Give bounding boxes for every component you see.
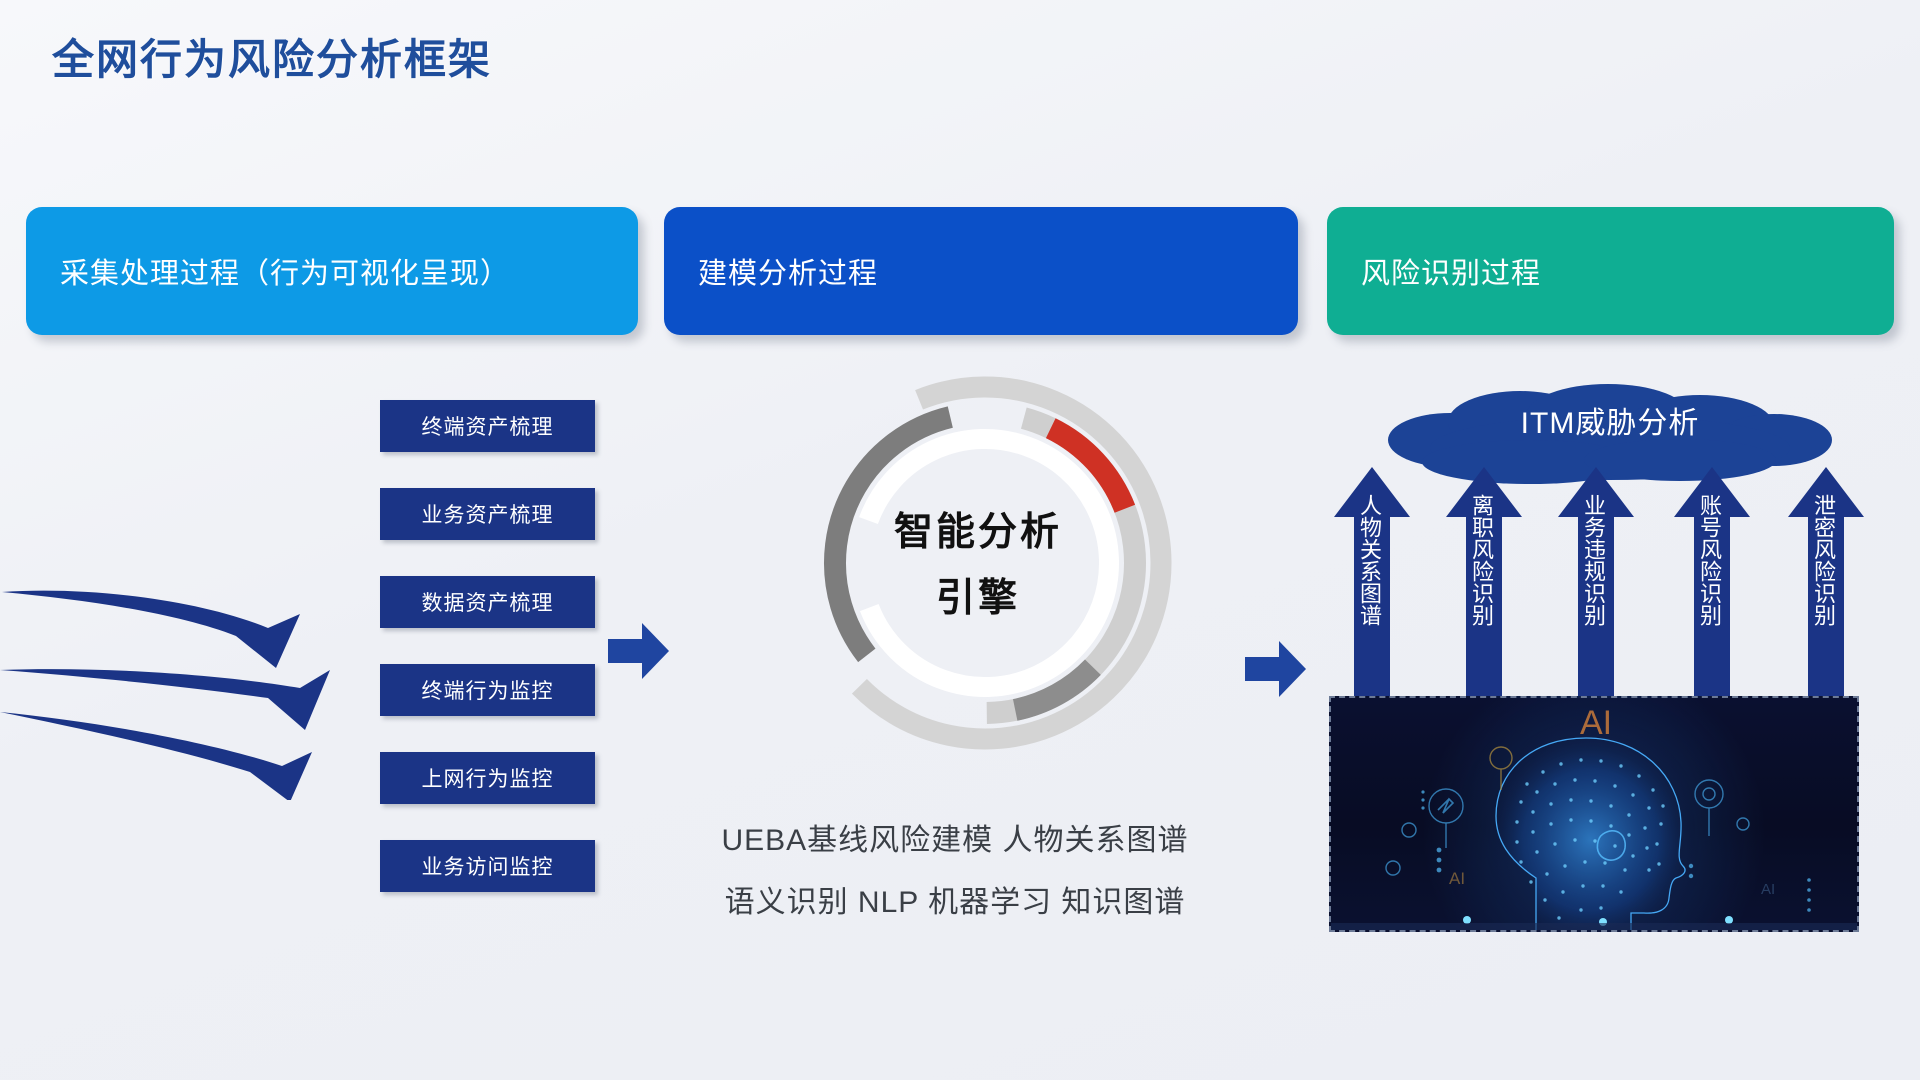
ai-caption-top: AI: [1580, 704, 1612, 742]
stage-banner-label: 采集处理过程（行为可视化呈现）: [60, 250, 510, 292]
itm-threat-cloud-label: ITM威胁分析: [1380, 398, 1840, 442]
swoosh-arrow-bottom: [0, 712, 312, 800]
ai-analysis-image: AI AI AI: [1329, 696, 1859, 932]
analysis-engine-label: 智能分析 引擎: [828, 500, 1128, 632]
stage-banner-label: 风险识别过程: [1361, 250, 1541, 292]
stage-banner-collection: 采集处理过程（行为可视化呈现）: [26, 207, 638, 335]
collection-item-5[interactable]: 业务访问监控: [380, 840, 595, 892]
collection-item-label: 终端行为监控: [422, 675, 554, 705]
ai-caption-bottom-left: AI: [1449, 869, 1465, 888]
page-title: 全网行为风险分析框架: [52, 26, 492, 87]
engine-label-line1: 智能分析: [828, 500, 1128, 566]
collection-item-4[interactable]: 上网行为监控: [380, 752, 595, 804]
modeling-keyword-line-1: UEBA基线风险建模 人物关系图谱: [645, 810, 1265, 872]
collection-item-label: 业务资产梳理: [422, 499, 554, 529]
collection-item-label: 数据资产梳理: [422, 587, 554, 617]
inbound-swoosh-arrows: [0, 570, 400, 800]
risk-arrow-label-0: 人物关系图谱: [1348, 494, 1382, 626]
collection-item-0[interactable]: 终端资产梳理: [380, 400, 595, 452]
engine-label-line2: 引擎: [828, 566, 1128, 632]
collection-item-1[interactable]: 业务资产梳理: [380, 488, 595, 540]
collection-item-2[interactable]: 数据资产梳理: [380, 576, 595, 628]
ai-caption-bottom-right: AI: [1761, 881, 1775, 898]
collection-item-label: 终端资产梳理: [422, 411, 554, 441]
stage-banner-risk: 风险识别过程: [1327, 207, 1894, 335]
step-arrow-collection-to-modeling: [608, 622, 670, 680]
risk-arrow-label-1: 离职风险识别: [1460, 494, 1494, 626]
risk-arrow-label-2: 业务违规识别: [1572, 494, 1606, 626]
collection-item-3[interactable]: 终端行为监控: [380, 664, 595, 716]
swoosh-arrow-top: [2, 591, 300, 668]
step-arrow-modeling-to-risk: [1245, 640, 1307, 698]
modeling-keywords: UEBA基线风险建模 人物关系图谱 语义识别 NLP 机器学习 知识图谱: [645, 810, 1265, 934]
ai-wireframe-head-illustration: AI AI AI: [1331, 698, 1859, 932]
stage-banner-label: 建模分析过程: [698, 250, 878, 292]
collection-item-label: 业务访问监控: [422, 851, 554, 881]
risk-arrow-label-3: 账号风险识别: [1688, 494, 1722, 626]
modeling-keyword-line-2: 语义识别 NLP 机器学习 知识图谱: [645, 872, 1265, 934]
stage-banner-modeling: 建模分析过程: [664, 207, 1298, 335]
head-outline: [1496, 738, 1685, 932]
collection-item-label: 上网行为监控: [422, 763, 554, 793]
risk-arrow-label-4: 泄密风险识别: [1802, 494, 1836, 626]
